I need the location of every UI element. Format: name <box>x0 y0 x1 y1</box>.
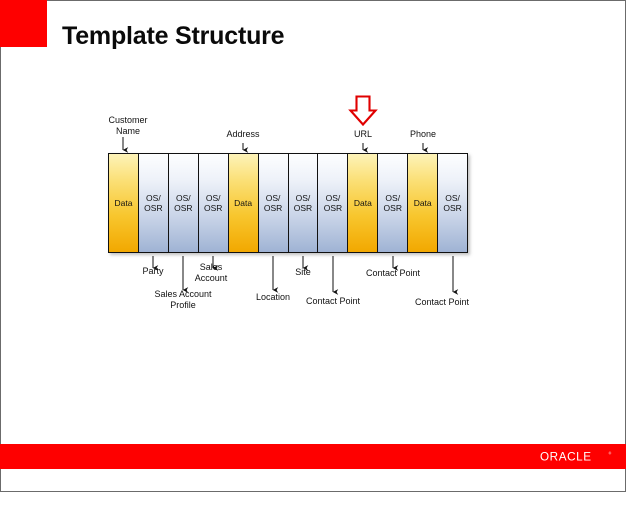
template-strip: Data OS/ OSR OS/ OSR OS/ OSR Data OS/ OS… <box>108 153 468 253</box>
callout-phone: Phone <box>398 129 448 140</box>
callout-party: Party <box>125 266 181 277</box>
strip-cell-7[interactable]: OS/ OSR <box>289 154 319 252</box>
strip-cell-label: OS/ OSR <box>144 193 162 213</box>
callout-contact-point-2: Contact Point <box>356 268 430 279</box>
leader-lines-overlay <box>0 0 640 512</box>
oracle-logo: ORACLE ® <box>540 449 618 464</box>
strip-cell-5[interactable]: Data <box>229 154 259 252</box>
strip-cell-6[interactable]: OS/ OSR <box>259 154 289 252</box>
footer-red-bar <box>0 444 626 469</box>
strip-cell-label: Data <box>354 198 372 208</box>
strip-cell-8[interactable]: OS/ OSR <box>318 154 348 252</box>
strip-cell-12[interactable]: OS/ OSR <box>438 154 467 252</box>
callout-contact-point-1: Contact Point <box>296 296 370 307</box>
strip-cell-2[interactable]: OS/ OSR <box>139 154 169 252</box>
slide-canvas: Template Structure Data OS/ OSR OS/ OSR … <box>0 0 640 512</box>
callout-location: Location <box>245 292 301 303</box>
strip-cell-1[interactable]: Data <box>109 154 139 252</box>
strip-cell-10[interactable]: OS/ OSR <box>378 154 408 252</box>
red-down-arrow-icon <box>351 97 376 125</box>
callout-url: URL <box>338 129 388 140</box>
strip-cell-4[interactable]: OS/ OSR <box>199 154 229 252</box>
strip-cell-label: Data <box>414 198 432 208</box>
strip-cell-label: Data <box>234 198 252 208</box>
strip-cell-label: OS/ OSR <box>324 193 342 213</box>
strip-cell-label: Data <box>114 198 132 208</box>
callout-sales-account: Sales Account <box>187 262 235 283</box>
strip-cell-11[interactable]: Data <box>408 154 438 252</box>
oracle-logo-trademark: ® <box>609 452 612 456</box>
callout-site: Site <box>281 267 325 278</box>
strip-cell-label: OS/ OSR <box>264 193 282 213</box>
oracle-logo-text: ORACLE <box>540 450 592 463</box>
callout-address: Address <box>213 129 273 140</box>
callout-sales-account-profile: Sales Account Profile <box>142 289 224 310</box>
strip-cell-3[interactable]: OS/ OSR <box>169 154 199 252</box>
strip-cell-label: OS/ OSR <box>294 193 312 213</box>
template-structure-diagram: Data OS/ OSR OS/ OSR OS/ OSR Data OS/ OS… <box>0 0 640 512</box>
callout-customer-name: Customer Name <box>98 115 158 136</box>
strip-cell-label: OS/ OSR <box>204 193 222 213</box>
strip-cell-label: OS/ OSR <box>174 193 192 213</box>
strip-cell-9[interactable]: Data <box>348 154 378 252</box>
strip-cell-label: OS/ OSR <box>443 193 461 213</box>
strip-cell-label: OS/ OSR <box>384 193 402 213</box>
callout-contact-point-3: Contact Point <box>405 297 479 308</box>
